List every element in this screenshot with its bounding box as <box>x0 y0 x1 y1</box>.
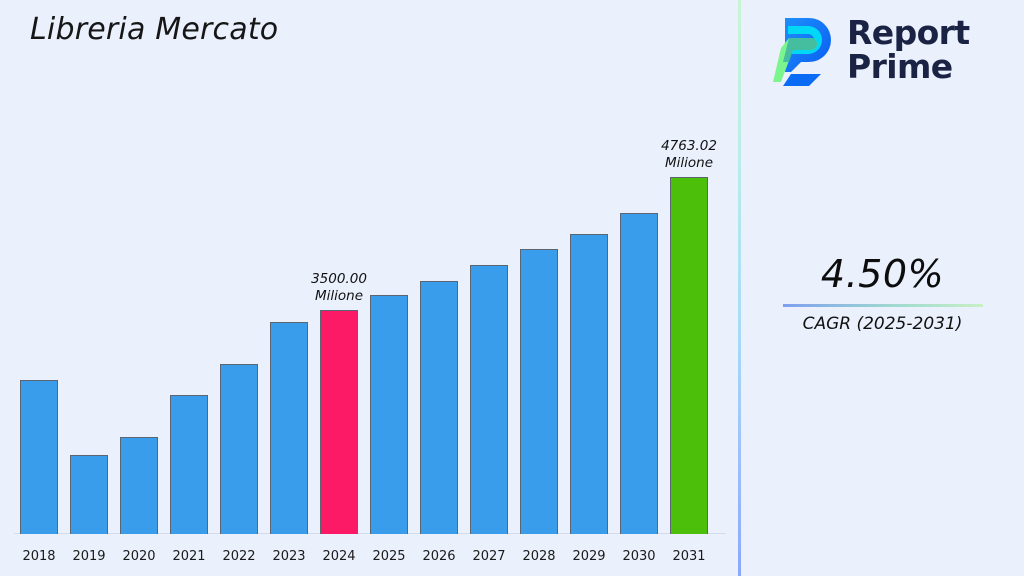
bar-group-2031: 4763.02Milione <box>664 34 714 534</box>
brand-logo: Report Prime <box>771 12 970 88</box>
brand-name-line2: Prime <box>847 50 970 84</box>
bar-2026[interactable] <box>420 281 458 534</box>
bar-2023[interactable] <box>270 322 308 534</box>
cagr-caption: CAGR (2025-2031) <box>741 314 1024 334</box>
bar-2028[interactable] <box>520 249 558 534</box>
bar-group-2019 <box>64 34 114 534</box>
bar-2020[interactable] <box>120 437 158 534</box>
bar-group-2024: 3500.00Milione <box>314 34 364 534</box>
bar-group-2020 <box>114 34 164 534</box>
brand-name: Report Prime <box>847 16 970 83</box>
bar-group-2018 <box>14 34 64 534</box>
bar-group-2021 <box>164 34 214 534</box>
bar-2027[interactable] <box>470 265 508 534</box>
bar-2024[interactable] <box>320 310 358 534</box>
x-axis-tick-2021: 2021 <box>164 549 214 564</box>
bar-2025[interactable] <box>370 295 408 534</box>
x-axis-tick-2023: 2023 <box>264 549 314 564</box>
x-axis-tick-2028: 2028 <box>514 549 564 564</box>
x-axis-tick-2030: 2030 <box>614 549 664 564</box>
cagr-value: 4.50% <box>741 252 1024 296</box>
x-axis-tick-2031: 2031 <box>664 549 714 564</box>
x-axis-tick-2029: 2029 <box>564 549 614 564</box>
bar-group-2028 <box>514 34 564 534</box>
x-axis-tick-2022: 2022 <box>214 549 264 564</box>
brand-name-line1: Report <box>847 16 970 50</box>
bar-2030[interactable] <box>620 213 658 534</box>
bar-2029[interactable] <box>570 234 608 534</box>
x-axis-tick-2027: 2027 <box>464 549 514 564</box>
bar-2031[interactable] <box>670 177 708 534</box>
x-axis-tick-2020: 2020 <box>114 549 164 564</box>
right-panel: Report Prime 4.50% CAGR (2025-2031) <box>741 0 1024 576</box>
bar-2018[interactable] <box>20 380 58 534</box>
bar-group-2030 <box>614 34 664 534</box>
x-axis-tick-2018: 2018 <box>14 549 64 564</box>
bar-2022[interactable] <box>220 364 258 534</box>
x-axis-tick-2026: 2026 <box>414 549 464 564</box>
report-prime-r-logo-icon <box>771 12 837 88</box>
bar-value-label-2031: 4763.02Milione <box>634 138 744 171</box>
bar-value-label-amount: 4763.02 <box>634 138 744 154</box>
bar-value-label-unit: Milione <box>634 155 744 171</box>
x-axis-tick-2024: 2024 <box>314 549 364 564</box>
bar-chart-plot-area: 3500.00Milione4763.02Milione 20182019202… <box>0 0 738 576</box>
bar-2021[interactable] <box>170 395 208 534</box>
bar-group-2027 <box>464 34 514 534</box>
bar-group-2022 <box>214 34 264 534</box>
chart-infographic: Libreria Mercato 3500.00Milione4763.02Mi… <box>0 0 1024 576</box>
bar-group-2026 <box>414 34 464 534</box>
bar-2019[interactable] <box>70 455 108 534</box>
cagr-divider-rule <box>783 304 983 307</box>
x-axis-tick-2019: 2019 <box>64 549 114 564</box>
bar-group-2029 <box>564 34 614 534</box>
x-axis-tick-2025: 2025 <box>364 549 414 564</box>
bar-group-2025 <box>364 34 414 534</box>
cagr-block: 4.50% CAGR (2025-2031) <box>741 252 1024 334</box>
